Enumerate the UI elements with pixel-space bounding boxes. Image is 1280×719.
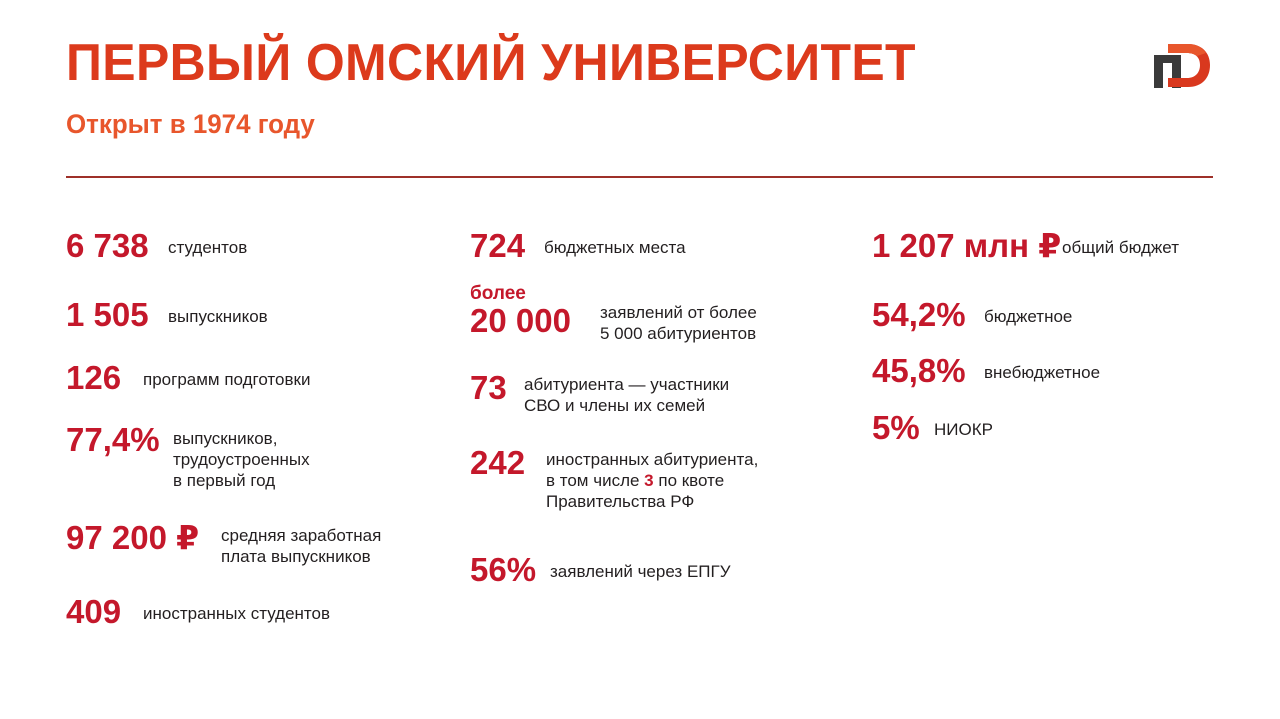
stat-label: выпускников (168, 297, 268, 327)
stat-label: выпускников, трудоустроенных в первый го… (173, 422, 310, 491)
stat-value: 97 200 ₽ (66, 520, 221, 556)
stat-label: общий бюджет (1062, 228, 1179, 258)
page-subtitle: Открыт в 1974 году (66, 92, 1168, 140)
stat-label: заявлений через ЕПГУ (550, 552, 731, 582)
stat-label: бюджетных места (544, 228, 686, 258)
stat-value: 5% (872, 410, 934, 446)
stat-item: 1 505 выпускников (66, 297, 268, 333)
stat-item: 56% заявлений через ЕПГУ (470, 552, 731, 588)
stat-item: 54,2% бюджетное (872, 297, 1072, 333)
stat-value: 56% (470, 552, 550, 588)
stat-label-highlight: 3 (644, 471, 653, 490)
stat-item: 1 207 млн ₽ общий бюджет (872, 228, 1179, 264)
stat-item: 97 200 ₽ средняя заработная плата выпуск… (66, 520, 381, 567)
stat-value: 724 (470, 228, 544, 264)
stat-item: более 20 000 заявлений от более 5 000 аб… (470, 284, 757, 344)
stat-value-group: более 20 000 (470, 284, 600, 339)
stat-item: 45,8% внебюджетное (872, 353, 1100, 389)
stat-item: 242 иностранных абитуриента, в том числе… (470, 445, 758, 512)
stat-value: 73 (470, 370, 524, 406)
slide-header: ПЕРВЫЙ ОМСКИЙ УНИВЕРСИТЕТ Открыт в 1974 … (66, 34, 1214, 154)
stat-item: 6 738 студентов (66, 228, 247, 264)
stat-label: бюджетное (984, 297, 1072, 327)
stat-label: внебюджетное (984, 353, 1100, 383)
stat-label: заявлений от более 5 000 абитуриентов (600, 284, 757, 344)
stat-value: 20 000 (470, 303, 600, 339)
stat-value: 6 738 (66, 228, 168, 264)
stat-item: 77,4% выпускников, трудоустроенных в пер… (66, 422, 310, 491)
stat-item: 73 абитуриента — участники СВО и члены и… (470, 370, 729, 416)
stat-label: иностранных абитуриента, в том числе 3 п… (546, 445, 758, 512)
stat-label: абитуриента — участники СВО и члены их с… (524, 370, 729, 416)
stat-item: 409 иностранных студентов (66, 594, 330, 630)
stat-label: иностранных студентов (143, 594, 330, 624)
stat-value: 1 207 млн ₽ (872, 228, 1062, 264)
stat-item: 724 бюджетных места (470, 228, 686, 264)
stat-label: средняя заработная плата выпускников (221, 520, 381, 567)
stat-item: 126 программ подготовки (66, 360, 310, 396)
stat-label: студентов (168, 228, 247, 258)
stat-value: 242 (470, 445, 546, 481)
stat-value: 409 (66, 594, 143, 630)
stat-value: 1 505 (66, 297, 168, 333)
stat-value: 77,4% (66, 422, 173, 458)
stat-label: НИОКР (934, 410, 993, 440)
stat-item: 5% НИОКР (872, 410, 993, 446)
university-logo (1150, 38, 1214, 94)
infographic-slide: ПЕРВЫЙ ОМСКИЙ УНИВЕРСИТЕТ Открыт в 1974 … (0, 0, 1280, 719)
stat-value: 45,8% (872, 353, 984, 389)
stat-value: 126 (66, 360, 143, 396)
header-divider (66, 176, 1213, 178)
stat-value-prefix: более (470, 284, 600, 303)
stat-value: 54,2% (872, 297, 984, 333)
stat-label: программ подготовки (143, 360, 310, 390)
page-title: ПЕРВЫЙ ОМСКИЙ УНИВЕРСИТЕТ (66, 34, 1168, 92)
